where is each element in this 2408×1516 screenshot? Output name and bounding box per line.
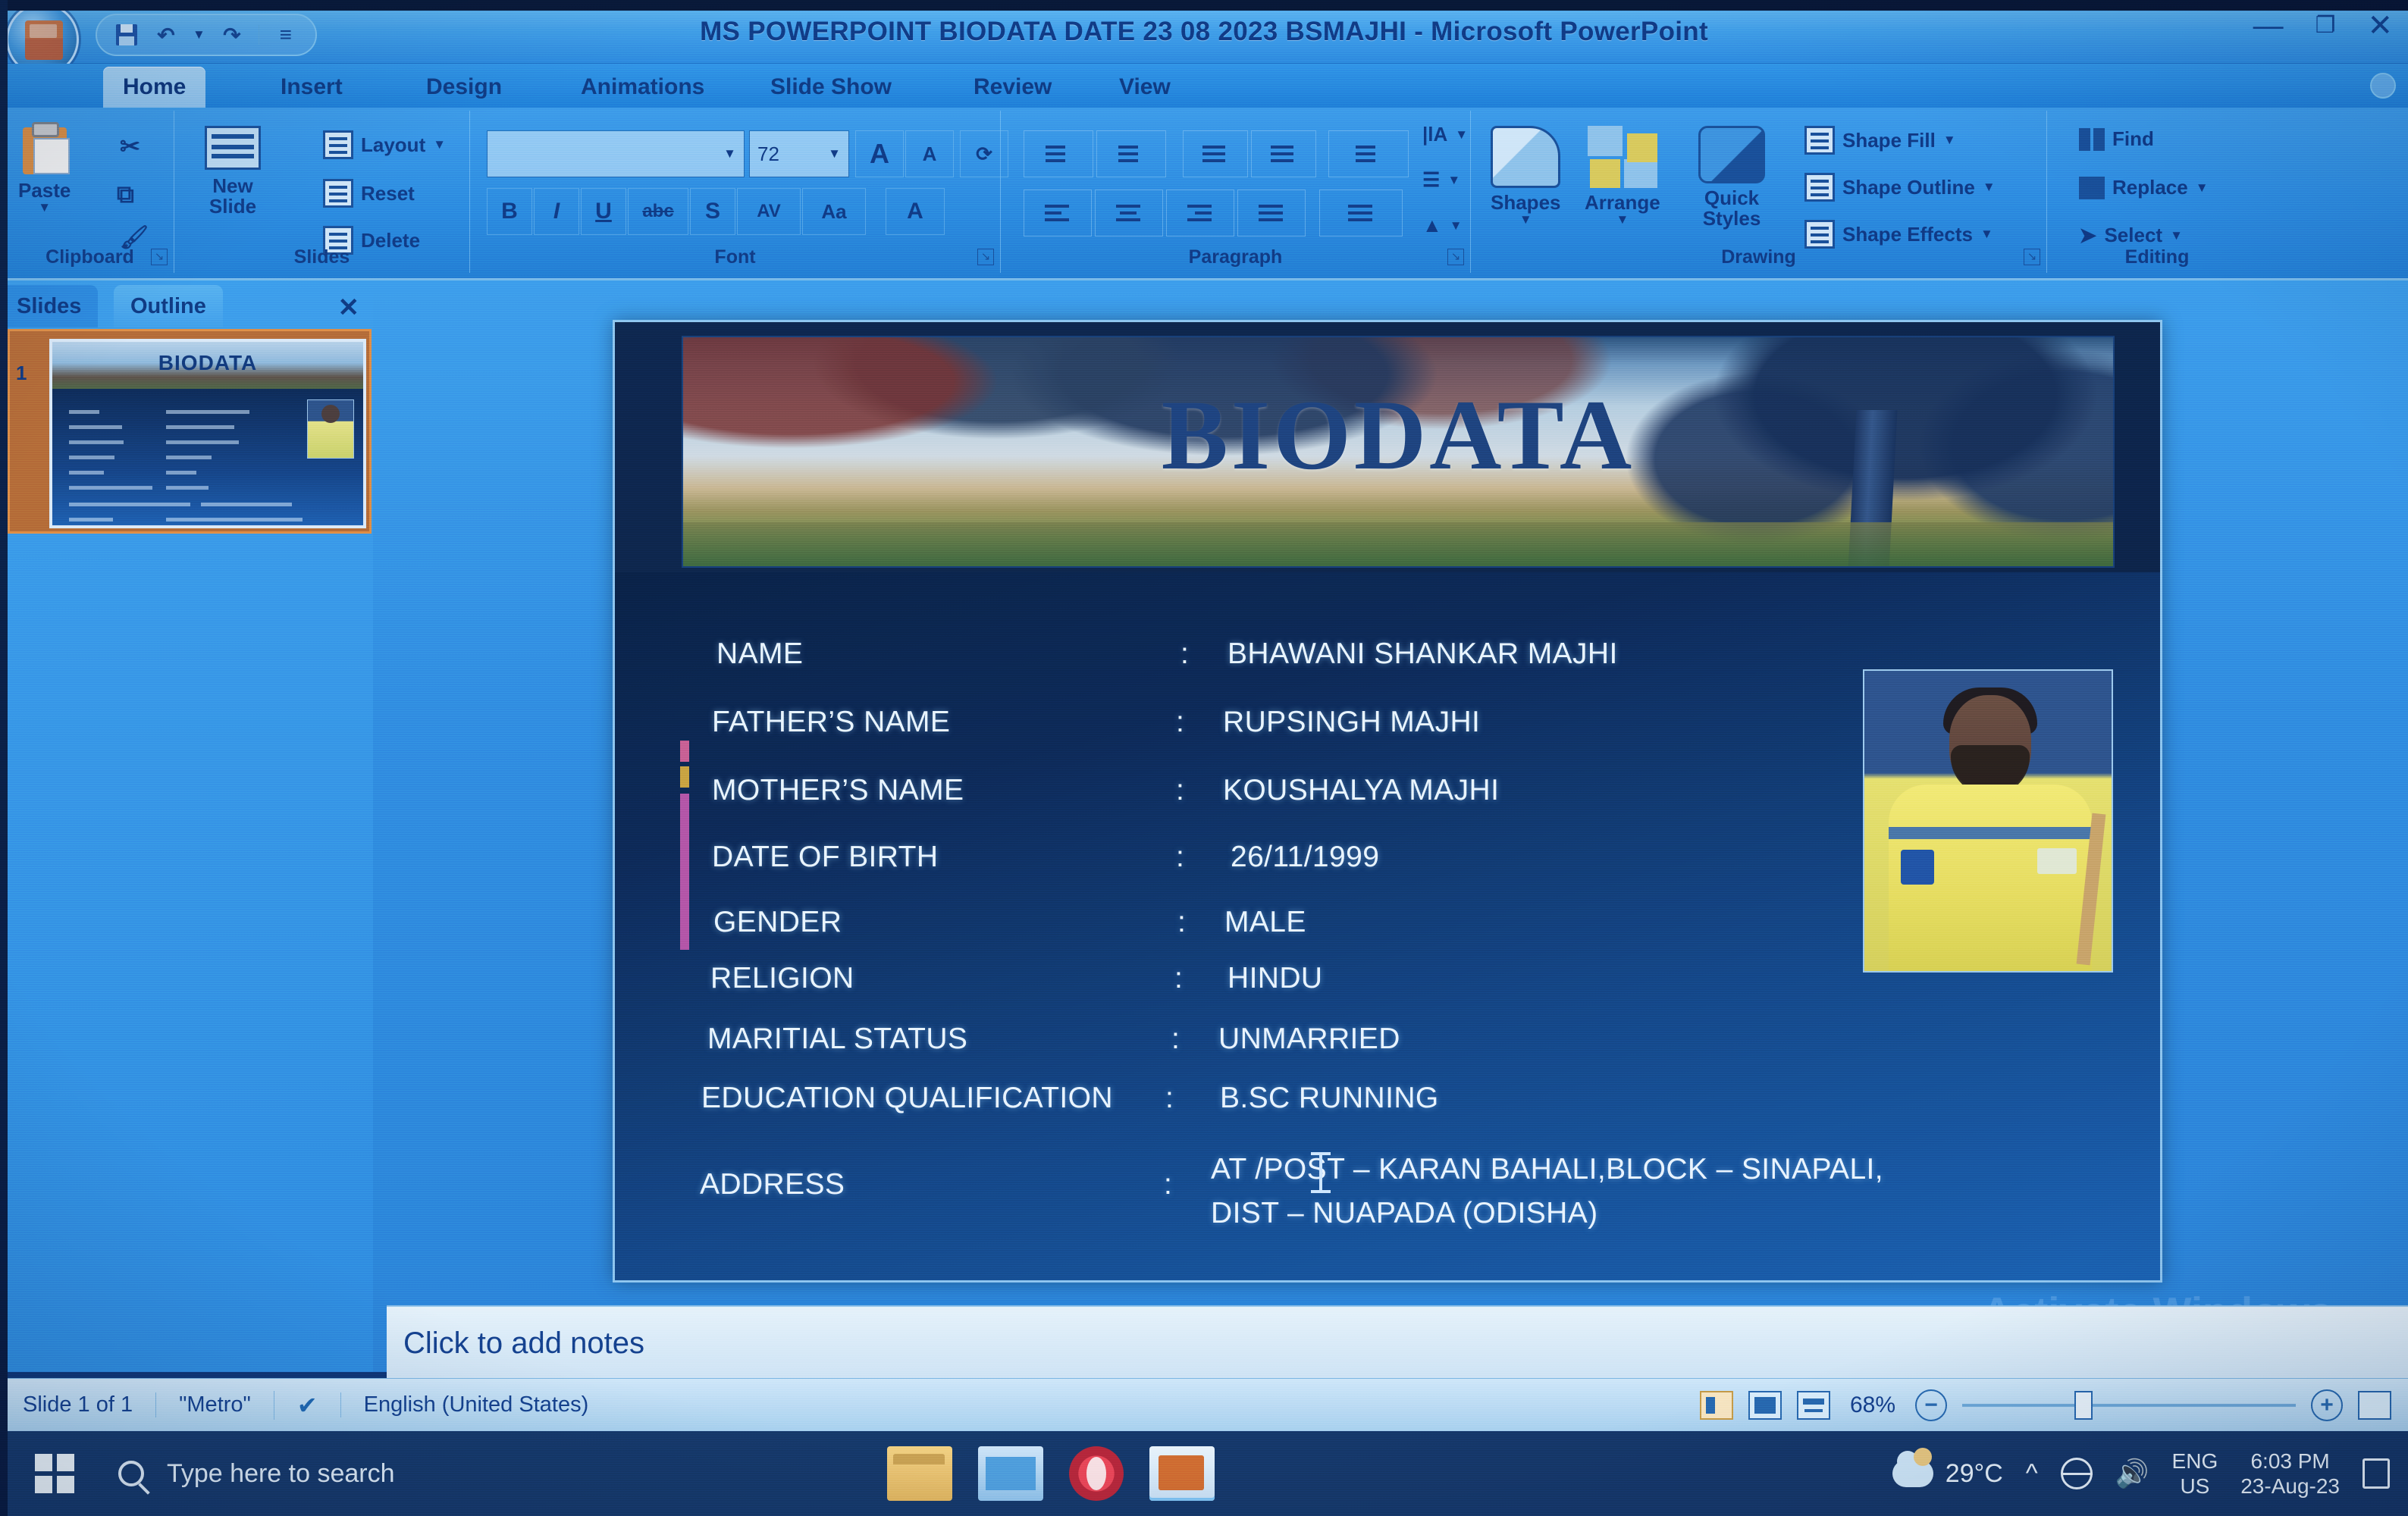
clock[interactable]: 6:03 PM 23-Aug-23 (2240, 1449, 2340, 1499)
show-hidden-icons-chevron-icon[interactable]: ^ (2026, 1459, 2038, 1489)
ribbon-tab-strip: Home Insert Design Animations Slide Show… (0, 64, 2408, 108)
volume-icon[interactable]: 🔊 (2115, 1458, 2149, 1489)
field-label: RELIGION (710, 962, 1174, 995)
title-bar: ↶ ▼ ↷ ≡ MS POWERPOINT BIODATA DATE 23 08… (0, 6, 2408, 64)
field-value: BHAWANI SHANKAR MAJHI (1228, 637, 1618, 671)
new-slide-label-2: Slide (209, 196, 256, 217)
tab-review[interactable]: Review (954, 67, 1071, 108)
title-banner-image[interactable]: BIODATA (682, 336, 2115, 568)
field-value: MALE (1224, 906, 1306, 939)
window-title: MS POWERPOINT BIODATA DATE 23 08 2023 BS… (0, 17, 2408, 47)
align-center-button[interactable] (1095, 189, 1163, 236)
columns-icon (1348, 203, 1374, 223)
select-button[interactable]: ➤ Select ▼ (2079, 223, 2183, 248)
font-dialog-launcher[interactable]: ↘ (977, 249, 994, 265)
shape-effects-button[interactable]: Shape Effects ▼ (1804, 220, 1993, 249)
field-colon: : (1174, 962, 1221, 995)
maximize-button[interactable]: ❐ (2316, 14, 2336, 37)
search-input[interactable]: Type here to search (167, 1459, 395, 1489)
zoom-in-button[interactable]: + (2311, 1389, 2343, 1421)
field-colon: : (1176, 841, 1223, 874)
change-case-button[interactable]: Aa (802, 188, 866, 235)
tab-design[interactable]: Design (406, 67, 522, 108)
slides-pane-tabs: Slides Outline ✕ (0, 280, 373, 327)
field-label: MARITIAL STATUS (707, 1023, 1171, 1056)
shape-fill-icon (1804, 126, 1835, 155)
field-row-fathers-name[interactable]: FATHER’S NAME : RUPSINGH MAJHI (712, 706, 1480, 739)
cut-icon[interactable]: ✂ (120, 132, 140, 161)
slide-number-label: 1 (16, 362, 27, 385)
window-controls: — ❐ ✕ (2253, 11, 2393, 41)
status-bar: Slide 1 of 1 "Metro" ✔ English (United S… (0, 1378, 2408, 1431)
shape-outline-caret-icon[interactable]: ▼ (1983, 180, 1996, 195)
pane-tab-outline[interactable]: Outline (114, 285, 223, 327)
field-label: DATE OF BIRTH (712, 841, 1176, 874)
copy-icon[interactable]: ⧉ (117, 180, 134, 209)
decrease-indent-button[interactable] (1183, 130, 1248, 177)
taskbar-date: 23-Aug-23 (2240, 1474, 2340, 1499)
font-size-input[interactable]: 72 ▼ (749, 130, 849, 177)
replace-button[interactable]: Replace ▼ (2079, 176, 2209, 199)
slide-thumbnail-item[interactable]: 1 BIODATA (8, 329, 372, 534)
align-right-button[interactable] (1166, 189, 1234, 236)
underline-button[interactable]: U (581, 188, 626, 235)
ribbon-group-font: ▼ 72 ▼ A A ⟳ B I U abc S AV Aa A Font ↘ (470, 111, 1001, 273)
reset-button[interactable]: Reset (323, 179, 415, 208)
thumbnail-banner: BIODATA (52, 342, 363, 389)
character-spacing-button[interactable]: AV (737, 188, 801, 235)
field-colon: : (1176, 706, 1223, 739)
shape-effects-label: Shape Effects (1842, 223, 1973, 246)
line-spacing-icon (1356, 144, 1381, 164)
camera-top-band (0, 0, 2408, 11)
group-title-editing: Editing (2047, 246, 2267, 268)
weather-icon (1892, 1460, 1933, 1487)
slide-sorter-view-button[interactable] (1748, 1391, 1782, 1420)
replace-label: Replace (2112, 176, 2188, 199)
field-colon: : (1165, 1082, 1212, 1115)
font-name-caret-icon[interactable]: ▼ (723, 146, 736, 161)
zoom-out-button[interactable]: − (1915, 1389, 1947, 1421)
thumbnail-title: BIODATA (158, 351, 257, 375)
slide-thumbnail-preview: BIODATA (49, 339, 366, 528)
slide-canvas[interactable]: BIODATA NAME : BHAWANI SHANKAR MAJHI FAT… (613, 320, 2162, 1283)
bold-button[interactable]: B (487, 188, 532, 235)
bullets-button[interactable] (1024, 130, 1093, 177)
pane-tab-slides[interactable]: Slides (0, 285, 98, 327)
ribbon-group-drawing: Shapes ▼ Arrange ▼ Quick Styles Shape Fi… (1471, 111, 2047, 273)
ribbon-group-editing: Find Replace ▼ ➤ Select ▼ Editing (2047, 111, 2267, 273)
field-value: UNMARRIED (1218, 1023, 1400, 1056)
network-icon[interactable] (2061, 1458, 2093, 1489)
field-value: KOUSHALYA MAJHI (1223, 774, 1499, 807)
minimize-button[interactable]: — (2253, 11, 2284, 41)
bullet-list-icon (1046, 144, 1071, 164)
cursor-icon: ➤ (2079, 223, 2096, 248)
numbered-list-icon (1118, 144, 1144, 164)
placeholder-marker-2 (680, 766, 689, 788)
increase-indent-button[interactable] (1251, 130, 1316, 177)
slide-editing-area: BIODATA NAME : BHAWANI SHANKAR MAJHI FAT… (373, 280, 2408, 1372)
spellcheck-icon[interactable]: ✔ (274, 1391, 318, 1420)
language-label[interactable]: English (United States) (340, 1392, 589, 1417)
field-label: FATHER’S NAME (712, 706, 1176, 739)
field-row-name[interactable]: NAME : BHAWANI SHANKAR MAJHI (716, 637, 1618, 671)
align-right-icon (1187, 203, 1213, 223)
text-direction-button[interactable]: |lA▼ (1422, 123, 1468, 146)
placeholder-marker-3 (680, 794, 689, 950)
font-color-button[interactable]: A (886, 188, 945, 235)
taskbar-photos-icon[interactable] (978, 1446, 1043, 1501)
align-left-icon (1045, 203, 1071, 223)
quick-styles-button[interactable]: Quick Styles (1698, 126, 1765, 230)
arrange-icon (1588, 126, 1657, 188)
field-colon: : (1164, 1168, 1211, 1201)
strikethrough-button[interactable]: abc (628, 188, 688, 235)
photo-sponsor-logo-right (2037, 848, 2077, 874)
new-slide-label-1: New (212, 176, 252, 196)
group-title-paragraph: Paragraph (1001, 246, 1470, 268)
ribbon: Paste ▼ ✂ ⧉ 🖌 Clipboard ↘ New Slide Layo… (0, 108, 2408, 280)
grass-field (683, 522, 2113, 566)
paragraph-dialog-launcher[interactable]: ↘ (1447, 249, 1464, 265)
quick-styles-icon (1698, 126, 1765, 183)
field-value: HINDU (1228, 962, 1323, 995)
language-line-2: US (2172, 1474, 2218, 1499)
portrait-photo[interactable] (1863, 669, 2113, 973)
field-row-date-of-birth[interactable]: DATE OF BIRTH : 26/11/1999 (712, 841, 1379, 874)
notes-placeholder: Click to add notes (403, 1326, 644, 1361)
arrange-label: Arrange (1585, 193, 1660, 213)
decrease-indent-icon (1202, 144, 1228, 164)
italic-button[interactable]: I (534, 188, 579, 235)
replace-icon (2079, 177, 2105, 199)
select-caret-icon[interactable]: ▼ (2170, 228, 2183, 243)
weather-temperature: 29°C (1946, 1459, 2003, 1489)
paste-label: Paste (18, 180, 71, 201)
reset-label: Reset (361, 182, 415, 205)
layout-caret-icon[interactable]: ▼ (433, 137, 446, 152)
start-button-icon[interactable] (35, 1454, 74, 1493)
field-row-address[interactable]: ADDRESS : AT /POST – KARAN BAHALI,BLOCK … (700, 1168, 1883, 1230)
language-line-1: ENG (2172, 1449, 2218, 1474)
increase-indent-icon (1271, 144, 1296, 164)
align-text-button[interactable]: ☰▼ (1422, 168, 1460, 192)
taskbar-opera-icon[interactable] (1069, 1446, 1124, 1501)
field-row-mothers-name[interactable]: MOTHER’S NAME : KOUSHALYA MAJHI (712, 774, 1499, 807)
font-size-value: 72 (757, 143, 828, 166)
paste-caret-icon[interactable]: ▼ (38, 201, 51, 215)
find-button[interactable]: Find (2079, 127, 2154, 151)
weather-widget[interactable]: 29°C (1892, 1459, 2003, 1489)
zoom-slider-handle[interactable] (2074, 1391, 2093, 1420)
paste-button[interactable]: Paste ▼ (18, 127, 71, 215)
find-label: Find (2112, 127, 2154, 151)
tab-home[interactable]: Home (103, 67, 205, 108)
thumbnail-photo (307, 399, 354, 459)
shape-effects-caret-icon[interactable]: ▼ (1980, 227, 1993, 242)
status-bar-right: 68% − + (1700, 1379, 2391, 1432)
group-title-clipboard: Clipboard (6, 246, 174, 268)
tab-view[interactable]: View (1099, 67, 1190, 108)
slide-count-label: Slide 1 of 1 (23, 1392, 133, 1417)
zoom-slider[interactable] (1962, 1404, 2296, 1407)
shape-outline-label: Shape Outline (1842, 176, 1975, 199)
justify-icon (1259, 203, 1284, 223)
quick-styles-label-1: Quick (1704, 188, 1759, 208)
shape-effects-icon (1804, 220, 1835, 249)
tab-slide-show[interactable]: Slide Show (751, 67, 911, 108)
field-colon: : (1177, 906, 1224, 939)
close-pane-icon[interactable]: ✕ (338, 293, 360, 323)
ribbon-group-clipboard: Paste ▼ ✂ ⧉ 🖌 Clipboard ↘ (6, 111, 174, 273)
group-title-drawing: Drawing (1471, 246, 2046, 268)
theme-label[interactable]: "Metro" (155, 1392, 251, 1417)
field-row-religion[interactable]: RELIGION : HINDU (710, 962, 1323, 995)
align-center-icon (1116, 203, 1142, 223)
field-label: GENDER (713, 906, 1177, 939)
shapes-caret-icon[interactable]: ▼ (1519, 213, 1532, 227)
field-row-marital-status[interactable]: MARITIAL STATUS : UNMARRIED (707, 1023, 1400, 1056)
slide-title: BIODATA (683, 377, 2113, 493)
photo-jersey-stripe (1889, 827, 2092, 839)
field-label: EDUCATION QUALIFICATION (701, 1082, 1165, 1115)
layout-icon (323, 130, 353, 159)
ribbon-group-paragraph: |lA▼ ☰▼ ▲▼ Paragraph ↘ (1001, 111, 1471, 273)
search-icon (118, 1461, 144, 1486)
system-tray: 29°C ^ 🔊 ENG US 6:03 PM 23-Aug-23 (1892, 1449, 2390, 1499)
field-colon: : (1180, 637, 1228, 671)
tab-insert[interactable]: Insert (261, 67, 362, 108)
drawing-dialog-launcher[interactable]: ↘ (2024, 249, 2040, 265)
shrink-font-button[interactable]: A (905, 130, 954, 177)
reading-view-button[interactable] (1797, 1391, 1830, 1420)
group-title-font: Font (470, 246, 1000, 268)
columns-button[interactable] (1319, 189, 1403, 236)
notes-pane[interactable]: Click to add notes (387, 1305, 2408, 1378)
shapes-icon (1491, 126, 1560, 188)
shape-outline-icon (1804, 173, 1835, 202)
field-label: MOTHER’S NAME (712, 774, 1176, 807)
shape-fill-label: Shape Fill (1842, 129, 1936, 152)
field-value: B.SC RUNNING (1220, 1082, 1439, 1115)
select-label: Select (2104, 224, 2162, 247)
shape-fill-button[interactable]: Shape Fill ▼ (1804, 126, 1956, 155)
replace-caret-icon[interactable]: ▼ (2196, 180, 2209, 196)
new-slide-icon (205, 126, 261, 170)
justify-button[interactable] (1237, 189, 1306, 236)
field-colon: : (1176, 774, 1223, 807)
field-value: RUPSINGH MAJHI (1223, 706, 1480, 739)
layout-label: Layout (361, 133, 425, 157)
layout-button[interactable]: Layout ▼ (323, 130, 446, 159)
font-size-caret-icon[interactable]: ▼ (828, 146, 841, 161)
find-icon (2079, 128, 2105, 151)
notifications-icon[interactable] (2363, 1458, 2390, 1489)
address-line-2: DIST – NUAPADA (ODISHA) (1211, 1197, 1883, 1230)
normal-view-button[interactable] (1700, 1391, 1733, 1420)
slide-body: NAME : BHAWANI SHANKAR MAJHI FATHER’S NA… (615, 572, 2160, 1280)
field-label: NAME (716, 637, 1180, 671)
field-label: ADDRESS (700, 1168, 1164, 1201)
taskbar-powerpoint-icon[interactable] (1149, 1446, 1215, 1501)
shape-fill-caret-icon[interactable]: ▼ (1943, 133, 1956, 148)
slides-pane: Slides Outline ✕ 1 BIODATA (0, 280, 373, 1372)
windows-taskbar: Type here to search 29°C ^ 🔊 ENG US 6:03… (0, 1431, 2408, 1516)
group-title-slides: Slides (174, 246, 469, 268)
taskbar-time: 6:03 PM (2240, 1449, 2340, 1474)
reset-icon (323, 179, 353, 208)
zoom-level-label[interactable]: 68% (1850, 1392, 1895, 1418)
field-colon: : (1171, 1023, 1218, 1056)
photo-sponsor-logo-left (1901, 850, 1934, 885)
arrange-caret-icon[interactable]: ▼ (1616, 213, 1629, 227)
thumbnail-body (52, 389, 363, 525)
grow-font-button[interactable]: A (855, 130, 904, 177)
language-indicator[interactable]: ENG US (2172, 1449, 2218, 1499)
text-cursor-icon (1319, 1152, 1322, 1193)
close-button[interactable]: ✕ (2367, 11, 2393, 41)
tab-animations[interactable]: Animations (561, 67, 724, 108)
address-line-1: AT /POST – KARAN BAHALI,BLOCK – SINAPALI… (1211, 1153, 1883, 1186)
quick-styles-label-2: Styles (1703, 208, 1761, 229)
fit-to-window-icon[interactable] (2358, 1391, 2391, 1420)
align-left-button[interactable] (1024, 189, 1092, 236)
field-row-education-qualification[interactable]: EDUCATION QUALIFICATION : B.SC RUNNING (701, 1082, 1439, 1115)
field-value: 26/11/1999 (1231, 841, 1379, 874)
field-row-gender[interactable]: GENDER : MALE (713, 906, 1306, 939)
shape-outline-button[interactable]: Shape Outline ▼ (1804, 173, 1996, 202)
shapes-label: Shapes (1491, 193, 1561, 213)
arrange-button[interactable]: Arrange ▼ (1585, 126, 1660, 227)
font-name-input[interactable]: ▼ (487, 130, 745, 177)
convert-smartart-button[interactable]: ▲▼ (1422, 214, 1463, 237)
new-slide-button[interactable]: New Slide (205, 126, 261, 218)
taskbar-file-explorer-icon[interactable] (887, 1446, 952, 1501)
taskbar-apps (887, 1446, 1215, 1501)
ribbon-group-slides: New Slide Layout ▼ Reset Delete Slides (174, 111, 470, 273)
text-shadow-button[interactable]: S (690, 188, 735, 235)
clipboard-dialog-launcher[interactable]: ↘ (151, 249, 168, 265)
shapes-button[interactable]: Shapes ▼ (1491, 126, 1561, 227)
numbering-button[interactable] (1096, 130, 1166, 177)
camera-left-band (0, 0, 8, 1516)
paste-icon (23, 127, 67, 174)
taskbar-search[interactable]: Type here to search (118, 1459, 395, 1489)
help-icon[interactable] (2370, 73, 2396, 99)
line-spacing-button[interactable] (1328, 130, 1409, 177)
placeholder-marker-1 (680, 741, 689, 762)
